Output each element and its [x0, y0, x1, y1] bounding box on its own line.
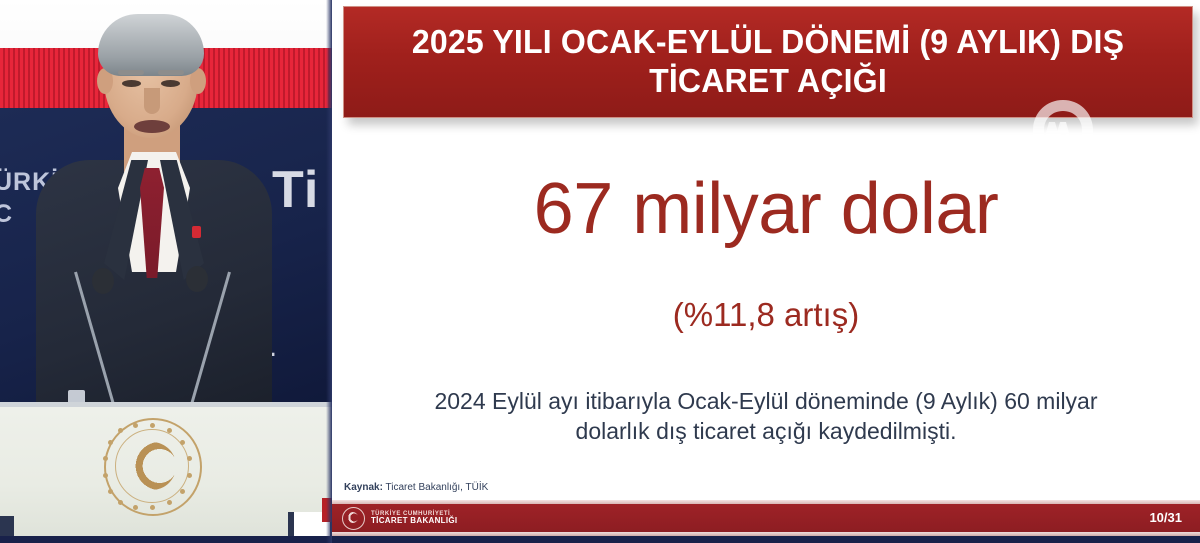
ministry-logo: TÜRKİYE CUMHURİYETİ TİCARET BAKANLIĞI	[342, 507, 457, 530]
emblem-star	[108, 440, 113, 445]
emblem-star	[108, 489, 113, 494]
emblem-star	[180, 489, 185, 494]
backdrop-text-c: C	[0, 200, 13, 229]
speaker-eye-right	[161, 80, 180, 87]
emblem-star	[150, 505, 155, 510]
headline-figure: 67 milyar dolar	[332, 168, 1200, 250]
turkish-state-emblem-icon	[104, 418, 202, 516]
backdrop-text-ti: Ti	[272, 160, 319, 220]
speaker-eyebrow-left	[118, 70, 144, 75]
emblem-star	[118, 500, 123, 505]
speaker-eyebrow-right	[158, 70, 184, 75]
source-label: Kaynak:	[344, 482, 383, 493]
page-number-indicator: 10/31	[1149, 510, 1182, 525]
emblem-star	[187, 456, 192, 461]
emblem-star	[103, 456, 108, 461]
podium-top-edge	[0, 402, 332, 407]
speaker-hair	[98, 14, 204, 76]
presentation-slide: 2025 YILI OCAK-EYLÜL DÖNEMİ (9 AYLIK) DI…	[332, 0, 1200, 543]
source-citation: Kaynak: Ticaret Bakanlığı, TÜİK	[344, 482, 488, 493]
emblem-star	[167, 500, 172, 505]
explanatory-note: 2024 Eylül ayı itibarıyla Ocak-Eylül dön…	[402, 386, 1130, 447]
turkish-flag-pin-icon	[192, 226, 201, 238]
aa-logo-watermark-icon	[1020, 90, 1106, 168]
emblem-star	[167, 428, 172, 433]
microphone-icon	[186, 266, 208, 292]
speaker-mouth	[134, 120, 170, 133]
ministry-name-line: TİCARET BAKANLIĞI	[371, 517, 457, 525]
emblem-star	[133, 423, 138, 428]
podium-foot-left	[0, 516, 14, 536]
video-right-edge	[326, 0, 332, 543]
broadcast-screen: ÜRKİYE C Ti SL	[0, 0, 1200, 543]
emblem-star	[118, 428, 123, 433]
emblem-star	[180, 440, 185, 445]
footer-navy-strip	[332, 536, 1200, 543]
microphone-icon	[92, 268, 114, 294]
emblem-star	[133, 505, 138, 510]
percent-change-label: (%11,8 artış)	[332, 296, 1200, 334]
speaker-eye-left	[122, 80, 141, 87]
ministry-logo-text: TÜRKİYE CUMHURİYETİ TİCARET BAKANLIĞI	[371, 511, 457, 526]
footer-bar	[332, 504, 1200, 532]
emblem-star	[103, 473, 108, 478]
live-video-panel: ÜRKİYE C Ti SL	[0, 0, 332, 543]
video-bottom-navy-strip	[0, 536, 332, 543]
emblem-star	[187, 473, 192, 478]
emblem-star	[150, 423, 155, 428]
speaker-nose	[144, 88, 160, 114]
emblem-crescent	[128, 442, 176, 490]
turkish-state-emblem-icon	[342, 507, 365, 530]
source-value: Ticaret Bakanlığı, TÜİK	[383, 482, 488, 493]
